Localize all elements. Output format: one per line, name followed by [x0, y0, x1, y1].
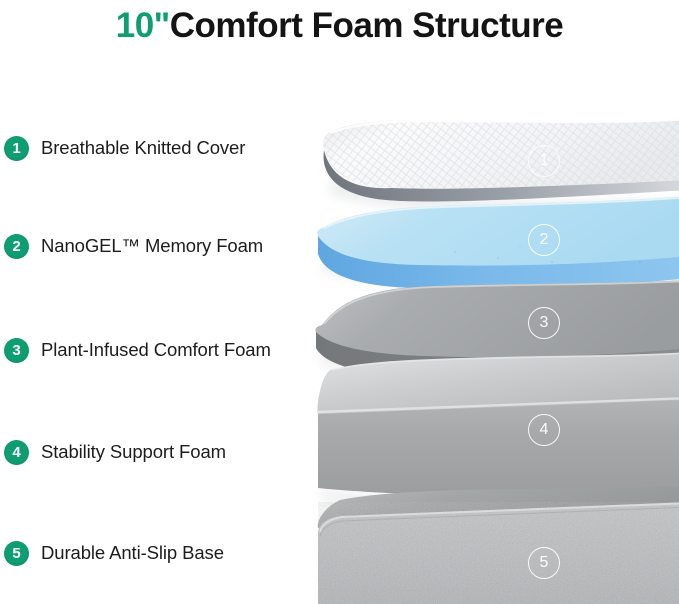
slab-badge-4: 4: [528, 414, 560, 446]
legend-label-2: NanoGEL™ Memory Foam: [41, 235, 263, 257]
foam-layer-4-stability-support-foam: [318, 352, 679, 513]
legend-item-4[interactable]: 4 Stability Support Foam: [4, 438, 226, 466]
title-rest: Comfort Foam Structure: [170, 6, 563, 45]
legend-label-1: Breathable Knitted Cover: [41, 137, 245, 159]
slab-badge-5: 5: [528, 547, 560, 579]
foam-layer-3-plant-infused-comfort-foam: [315, 280, 679, 381]
legend-label-4: Stability Support Foam: [41, 441, 226, 463]
legend-item-3[interactable]: 3 Plant-Infused Comfort Foam: [4, 336, 271, 364]
legend-badge-4: 4: [4, 440, 29, 465]
legend-badge-2: 2: [4, 234, 29, 259]
slab-badge-2: 2: [528, 224, 560, 256]
page-title: 10"Comfort Foam Structure: [0, 0, 679, 48]
legend-item-2[interactable]: 2 NanoGEL™ Memory Foam: [4, 232, 263, 260]
foam-layer-1-breathable-knitted-cover: [323, 118, 679, 218]
slab-badge-3: 3: [528, 307, 560, 339]
legend-badge-3: 3: [4, 338, 29, 363]
legend-item-5[interactable]: 5 Durable Anti-Slip Base: [4, 539, 224, 567]
legend-label-5: Durable Anti-Slip Base: [41, 542, 224, 564]
exploded-mattress-foam-layers: [0, 0, 679, 604]
legend-badge-1: 1: [4, 136, 29, 161]
title-measurement: 10": [116, 6, 170, 45]
legend-item-1[interactable]: 1 Breathable Knitted Cover: [4, 134, 245, 162]
legend-badge-5: 5: [4, 541, 29, 566]
foam-layer-5-durable-anti-slip-base: [318, 486, 679, 604]
foam-layer-2-nanogel-memory-foam: [317, 196, 679, 294]
slab-badge-1: 1: [528, 145, 560, 177]
legend-label-3: Plant-Infused Comfort Foam: [41, 339, 271, 361]
